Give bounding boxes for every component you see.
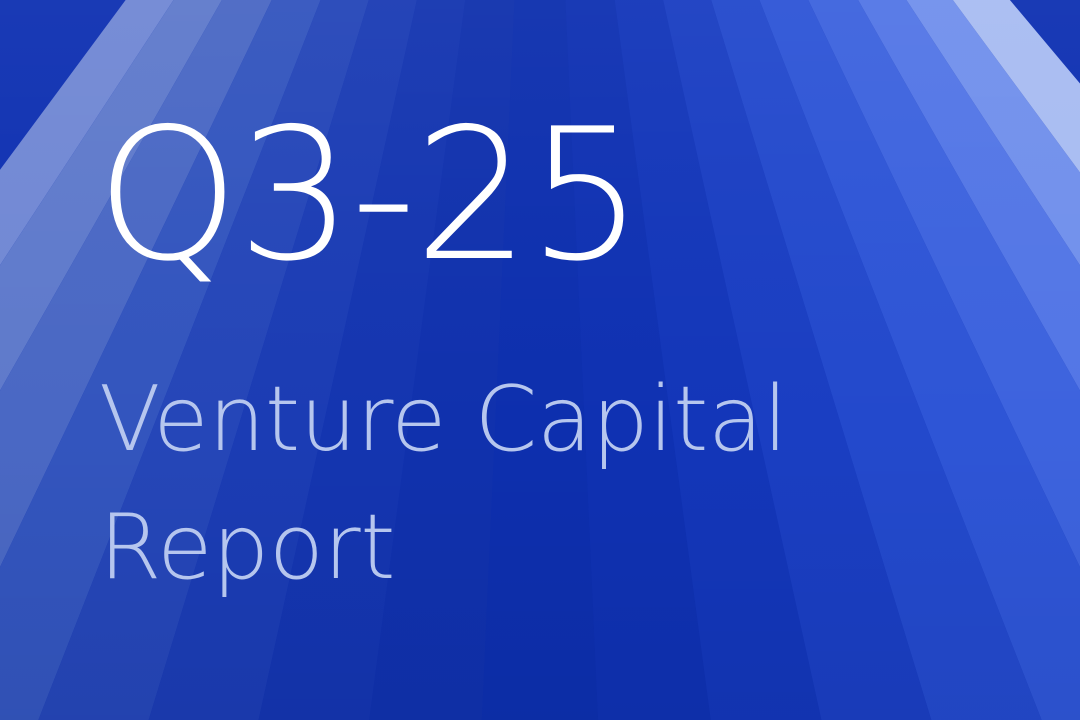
page-title: Q3-25 [96, 104, 641, 286]
page-subtitle-line-2: Report [99, 484, 939, 612]
page-subtitle: Venture Capital Report [99, 356, 939, 612]
page-subtitle-line-1: Venture Capital [99, 356, 939, 484]
poster-content: Q3-25 Venture Capital Report [0, 0, 1080, 720]
poster-canvas: Q3-25 Venture Capital Report [0, 0, 1080, 720]
